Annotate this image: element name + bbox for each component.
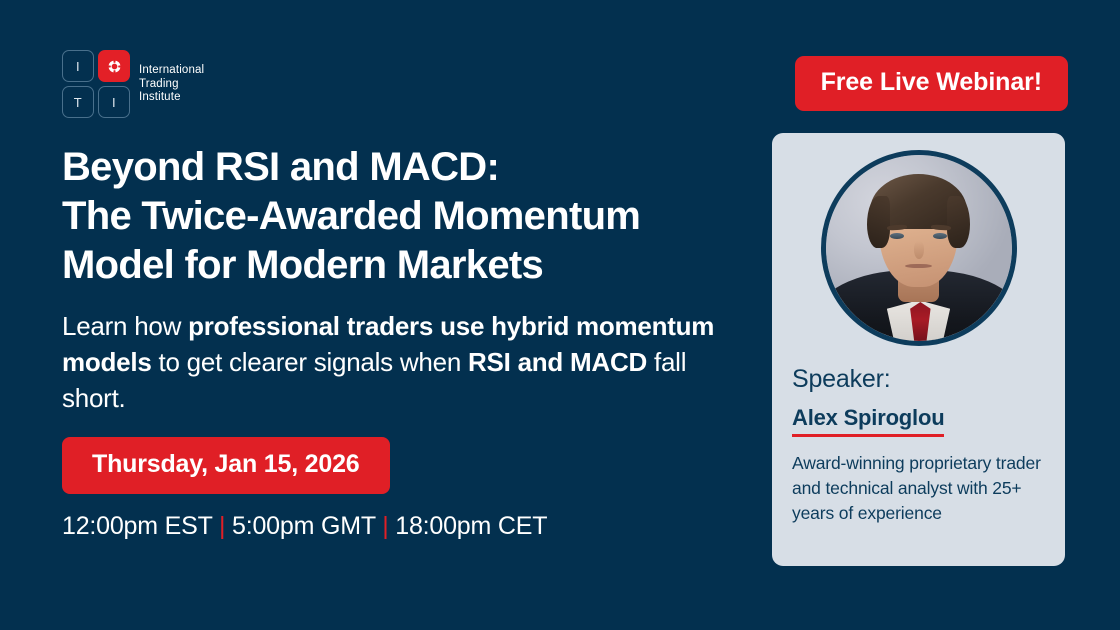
gear-icon <box>107 59 122 74</box>
logo-word-line-2: Trading <box>139 78 204 91</box>
time-est: 12:00pm EST <box>62 512 212 540</box>
speaker-portrait-image <box>826 155 1012 341</box>
logo-mark: I T I <box>62 50 130 118</box>
subhead-part-1: Learn how <box>62 311 188 341</box>
logo-tile-i1: I <box>62 50 94 82</box>
speaker-card: Speaker: Alex Spiroglou Award-winning pr… <box>772 133 1065 566</box>
page-title: Beyond RSI and MACD: The Twice-Awarded M… <box>62 143 752 290</box>
logo-word-line-1: International <box>139 64 204 77</box>
subhead-part-2: to get clearer signals when <box>152 347 468 377</box>
headline-line-3: Model for Modern Markets <box>62 243 543 287</box>
logo-word-line-3: Institute <box>139 91 204 104</box>
headline-line-2: The Twice-Awarded Momentum <box>62 194 640 238</box>
time-gmt: 5:00pm GMT <box>232 512 375 540</box>
logo-wordmark: International Trading Institute <box>139 63 204 104</box>
logo-tile-mark <box>98 50 130 82</box>
subhead-bold-2: RSI and MACD <box>468 347 647 377</box>
headline-line-1: Beyond RSI and MACD: <box>62 145 499 189</box>
free-live-webinar-badge: Free Live Webinar! <box>795 56 1068 111</box>
webinar-date-button[interactable]: Thursday, Jan 15, 2026 <box>62 437 390 494</box>
logo-tile-t: T <box>62 86 94 118</box>
subheadline: Learn how professional traders use hybri… <box>62 308 727 416</box>
speaker-name: Alex Spiroglou <box>792 405 944 437</box>
time-separator-2: | <box>382 512 388 540</box>
timezone-list: 12:00pm EST | 5:00pm GMT | 18:00pm CET <box>62 512 547 541</box>
speaker-label: Speaker: <box>792 365 1045 394</box>
time-separator-1: | <box>219 512 225 540</box>
speaker-bio: Award-winning proprietary trader and tec… <box>792 451 1045 526</box>
speaker-avatar <box>821 150 1017 346</box>
logo-tile-i2: I <box>98 86 130 118</box>
time-cet: 18:00pm CET <box>395 512 547 540</box>
brand-logo[interactable]: I T I International Trading Institute <box>62 50 204 118</box>
